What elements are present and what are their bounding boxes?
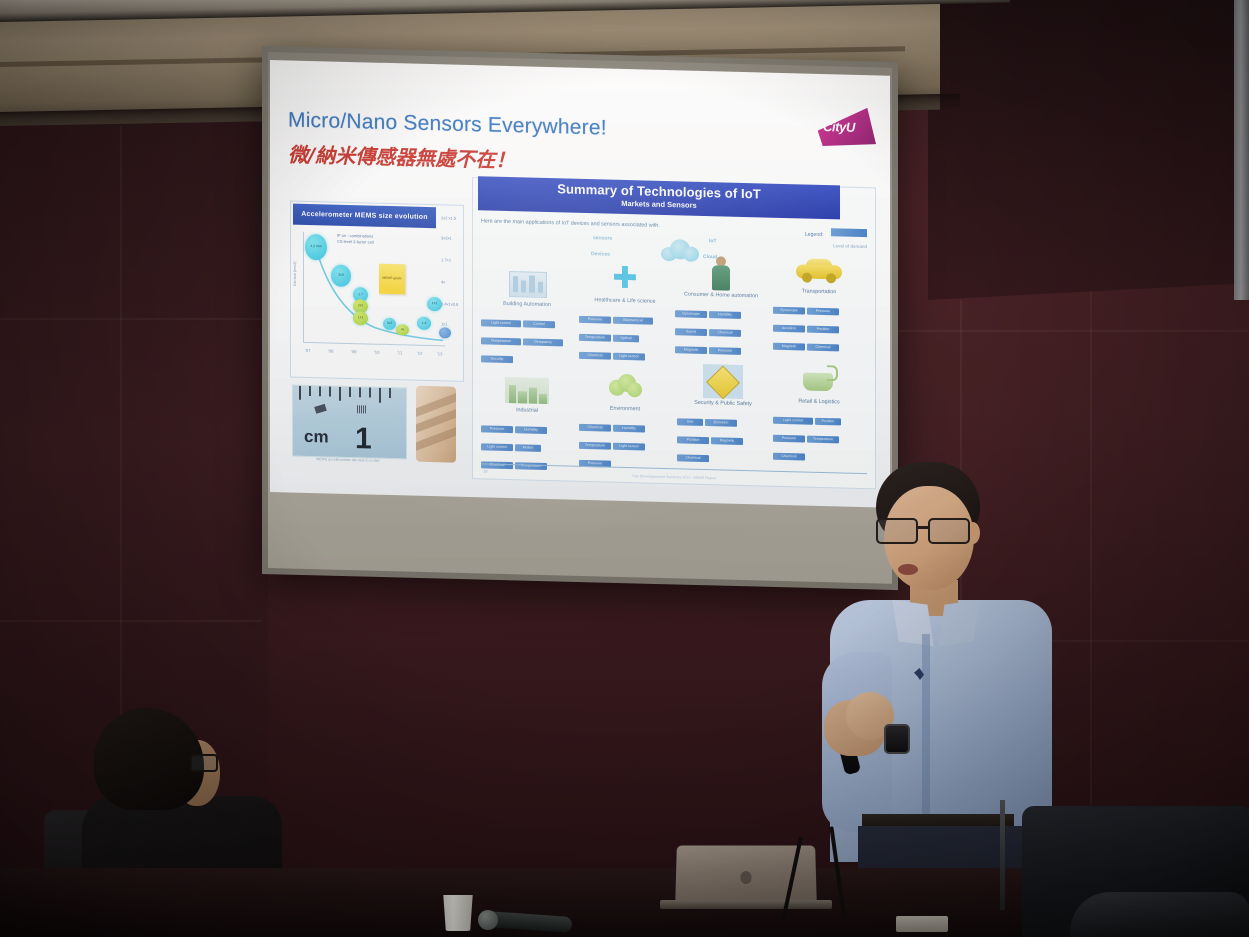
wall-seam <box>0 318 262 320</box>
sensor-tag-list: GasBiometricPositionMagneticChemical <box>677 409 771 465</box>
chart-x-tick: '08 <box>328 348 333 353</box>
presenter-mouth <box>898 564 918 575</box>
chart-x-tick: '11 <box>397 350 402 355</box>
chart-side-note: 2x2 x1.5 <box>441 215 456 220</box>
wall-panel-right <box>928 0 1249 300</box>
category-label: Healthcare & Life science <box>577 297 673 305</box>
factory-icon <box>503 371 551 406</box>
sensor-tag: Humidity <box>613 425 645 433</box>
chart-x-tick: '13 <box>437 351 442 356</box>
iot-category-security: Security & Public Safety GasBiometricPos… <box>675 363 771 365</box>
slide-title-english: Micro/Nano Sensors Everywhere! <box>288 108 607 140</box>
iot-category-environment: Environment ChemicalHumidityTemperatureL… <box>577 369 673 371</box>
glasses-icon <box>876 518 978 540</box>
iot-summary-card: Summary of Technologies of IoT Markets a… <box>472 177 876 489</box>
sensor-tag: Humidity <box>515 426 547 434</box>
iot-legend-label: Legend: <box>805 232 824 238</box>
chart-bubble: 1.4 <box>417 317 431 330</box>
sensor-tag: Chemical <box>773 453 805 461</box>
sensor-tag: Optical <box>613 335 639 343</box>
category-label: Security & Public Safety <box>675 399 771 407</box>
sensor-tag: Magnetic <box>711 437 743 445</box>
sensor-tag: Pressure <box>807 308 839 316</box>
category-label: Building Automation <box>479 300 575 308</box>
iot-category-retail: Retail & Logistics Light controlPosition… <box>771 362 867 364</box>
chart-x-tick: '10 <box>374 350 379 355</box>
sensor-tag: Position <box>807 326 839 334</box>
car-icon <box>795 252 843 287</box>
sensor-tag: Position <box>815 418 841 426</box>
chart-side-note: 1x1 <box>441 321 447 326</box>
sensor-tag: Occupancy <box>523 338 563 346</box>
glasses-icon <box>190 754 218 772</box>
chart-y-axis-label: Die size (mm2) <box>293 262 297 286</box>
ruler-mark-label: 1 <box>355 427 372 451</box>
cloud-word: Devices <box>591 251 610 257</box>
sensor-tag: Temperature <box>579 334 611 342</box>
chart-bubble: 4x <box>396 324 409 335</box>
ruler-photo: cm 1 <box>292 385 407 460</box>
category-label: Industrial <box>479 406 575 414</box>
sensor-tag: Chemical <box>579 424 611 432</box>
sensor-tag-list: ChemicalHumidityTemperatureLight sensorP… <box>579 415 673 471</box>
sensor-tag: Temperature <box>807 436 839 444</box>
shopping-cart-icon <box>795 362 843 397</box>
sensor-tag: Pressure <box>709 347 741 355</box>
chart-side-note: 1.4x1x0.8 <box>441 301 458 306</box>
wall-seam <box>0 620 262 622</box>
sensor-tag: Pressure <box>481 425 513 433</box>
sensor-tag: Humidity <box>709 311 741 319</box>
chart-side-note: 1.7×1 <box>441 257 451 262</box>
sensor-tag: Temperature <box>579 442 611 450</box>
tree-icon <box>601 369 649 404</box>
sensor-tag: Accelero <box>773 325 805 333</box>
chart-header-label: Accelerometer MEMS size evolution <box>301 211 427 221</box>
wristwatch-icon <box>884 724 910 754</box>
mems-chip-detail <box>357 405 367 413</box>
microphone-stand <box>1000 800 1005 910</box>
iot-legend: Legend: Level of demand <box>805 223 867 250</box>
sensor-tag: Security <box>481 355 513 363</box>
chart-x-tick: '09 <box>351 349 356 354</box>
cityu-logo-text: CityU <box>823 119 855 135</box>
paper-sheet <box>896 916 948 932</box>
sensor-tag: Light control <box>773 417 813 425</box>
warning-sign-icon <box>699 364 747 399</box>
category-label: Environment <box>577 405 673 413</box>
lecture-hall-photo: Micro/Nano Sensors Everywhere! 微/納米傳感器無處… <box>0 0 1249 937</box>
chart-header: Accelerometer MEMS size evolution <box>293 204 436 229</box>
apple-logo-icon <box>740 871 751 884</box>
wall-seam <box>898 330 1249 332</box>
sensor-tag: Gas <box>677 418 703 426</box>
microphone-head <box>478 910 498 930</box>
accelerometer-chart-card: Accelerometer MEMS size evolution Die si… <box>290 201 464 382</box>
cityu-logo: CityU <box>814 106 876 148</box>
iot-category-transportation: Transportation GyroscopePressureAccelero… <box>771 252 867 254</box>
sensor-tag: Biometric <box>705 419 737 427</box>
sensor-tag: Motion <box>515 444 541 452</box>
chart-bubble: 1x1 <box>353 311 368 325</box>
sensor-tag: Chemical <box>709 329 741 337</box>
iot-legend-chip <box>831 228 867 237</box>
iot-legend-sublabel: Level of demand <box>805 243 867 250</box>
sensor-tag-list: GyroscopePressureAcceleroPositionMagneti… <box>773 298 867 354</box>
person-icon <box>697 256 745 291</box>
cloud-icon <box>661 237 699 262</box>
category-label: Retail & Logistics <box>771 398 867 406</box>
sensor-tag: Gyroscope <box>675 310 707 318</box>
cloud-word: IoT <box>709 238 717 244</box>
sensor-tag: Magnetic <box>773 343 805 351</box>
chart-x-tick: '07 <box>305 348 310 353</box>
iot-category-building-automation: Building Automation Light controlControl… <box>479 264 575 266</box>
sensor-tag: Light control <box>481 319 521 327</box>
category-label: Consumer & Home automation <box>673 291 769 299</box>
chart-bubble <box>439 327 451 338</box>
sensor-tag: Gyroscope <box>773 307 805 315</box>
sensor-tag: Biochemical <box>613 317 653 325</box>
wall-light-strip <box>1234 0 1249 300</box>
ruler-ticks <box>293 386 406 405</box>
paper-cup <box>442 895 474 931</box>
sensor-tag-list: Light controlControlTemperatureOccupancy… <box>481 310 575 366</box>
presenter-shirt-placket <box>922 634 930 824</box>
attendee-hair <box>94 708 204 810</box>
medical-cross-icon: ✚ <box>601 261 649 296</box>
sensor-tag: Position <box>677 436 709 444</box>
iot-category-industrial: Industrial PressureHumidityLight control… <box>479 370 575 372</box>
category-label: Transportation <box>771 288 867 296</box>
slide-title-chinese: 微/納米傳感器無處不在！ <box>288 138 515 173</box>
cloud-word: sensors <box>593 235 612 241</box>
iot-card-header: Summary of Technologies of IoT Markets a… <box>478 176 840 219</box>
chart-callout-note: MEMS goals <box>379 264 405 295</box>
chart-side-note: 3x3x1 <box>441 235 452 240</box>
chart-bubble: 1.2 mm <box>305 234 327 261</box>
sensor-tag: Temperature <box>481 337 521 345</box>
mems-chip <box>314 404 327 414</box>
sensor-tag: Chemical <box>677 454 709 462</box>
sensor-tag-list: PressureBiochemicalTemperatureOpticalChe… <box>579 307 673 363</box>
chart-bubble: 1x1 <box>427 297 442 311</box>
iot-lead-text: Here are the main applications of IoT de… <box>481 218 660 229</box>
projected-slide: Micro/Nano Sensors Everywhere! 微/納米傳感器無處… <box>270 60 890 508</box>
chart-bubble: 3x3 <box>331 265 351 288</box>
sensor-tag: Pressure <box>773 435 805 443</box>
laptop-base <box>660 900 832 909</box>
sensor-tag: Light control <box>481 443 513 451</box>
chart-x-tick: '12 <box>417 351 422 356</box>
chart-bubble: 3x3 <box>383 318 396 330</box>
sensor-tag: Chemical <box>807 344 839 352</box>
building-icon <box>503 265 551 300</box>
sensor-tag: Light sensor <box>613 353 645 361</box>
finger-holding-chip-photo <box>416 386 456 463</box>
sensor-tag: Sound <box>675 328 707 336</box>
chart-side-note: 4x <box>441 279 445 284</box>
sensor-tag-list: GyroscopeHumiditySoundChemicalMagneticPr… <box>675 301 769 357</box>
sensor-tag: Light sensor <box>613 443 645 451</box>
ruler-unit-label: cm <box>304 427 329 448</box>
sensor-tag: Magnetic <box>675 346 707 354</box>
presenter <box>818 462 1068 862</box>
sensor-tag-list: Light controlPositionPressureTemperature… <box>773 408 867 464</box>
sensor-tag: Control <box>523 320 555 328</box>
presenter-collar <box>938 600 979 646</box>
conference-chair <box>1070 892 1249 937</box>
sensor-tag: Pressure <box>579 316 611 324</box>
sensor-tag: Chemical <box>579 352 611 360</box>
